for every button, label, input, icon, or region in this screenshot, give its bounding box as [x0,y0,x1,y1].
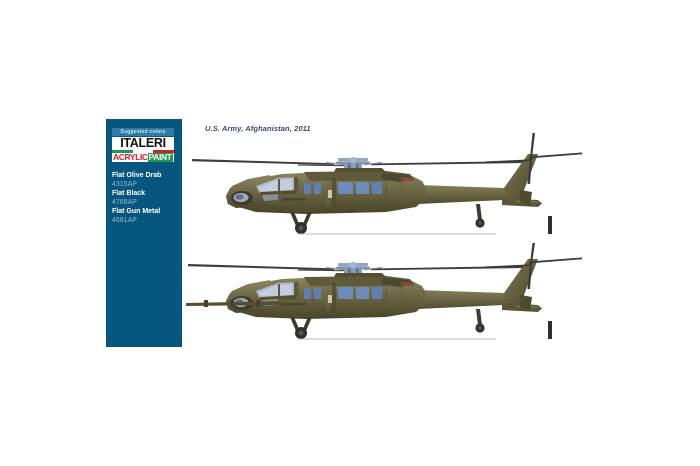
tail-landing-gear [475,204,484,228]
cabin-door-frame [332,178,336,208]
main-landing-gear [282,313,314,339]
tail-landing-gear [475,309,484,333]
door-handle [328,295,332,303]
detached-rotor-tip [548,321,552,339]
suggested-colors-label: Suggested colors [112,128,174,136]
upper-profile-view [186,128,586,248]
acrylic-paint-wordmark: ACRYLIC PAINT [112,153,174,162]
tail-boom [418,290,516,309]
detached-rotor-tip [548,216,552,234]
tail-rotor [486,243,582,289]
tail-rotor [486,133,582,184]
door-handle [328,190,332,198]
paint-name-2: Flat Black [112,189,182,198]
acrylic-label: ACRYLIC [112,153,148,162]
paint-color-list: Flat Olive Drab 4315AP Flat Black 4768AP… [112,171,182,225]
suggested-colors-panel: Suggested colors ITALERI ACRYLIC PAINT F… [106,119,182,347]
paint-name-1: Flat Olive Drab [112,171,182,180]
tail-boom [418,185,516,204]
italeri-logo: ITALERI ACRYLIC PAINT [112,137,174,162]
lower-profile-view [186,243,586,363]
paint-code-1: 4315AP [112,180,182,189]
italeri-brand-name: ITALERI [112,137,174,150]
main-landing-gear [282,208,314,234]
paint-code-2: 4768AP [112,198,182,207]
paint-code-3: 4681AP [112,216,182,225]
paint-label: PAINT [148,153,173,162]
color-panel-content: Suggested colors ITALERI ACRYLIC PAINT F… [112,128,178,225]
paint-name-3: Flat Gun Metal [112,207,182,216]
cabin-door-frame [332,283,336,313]
